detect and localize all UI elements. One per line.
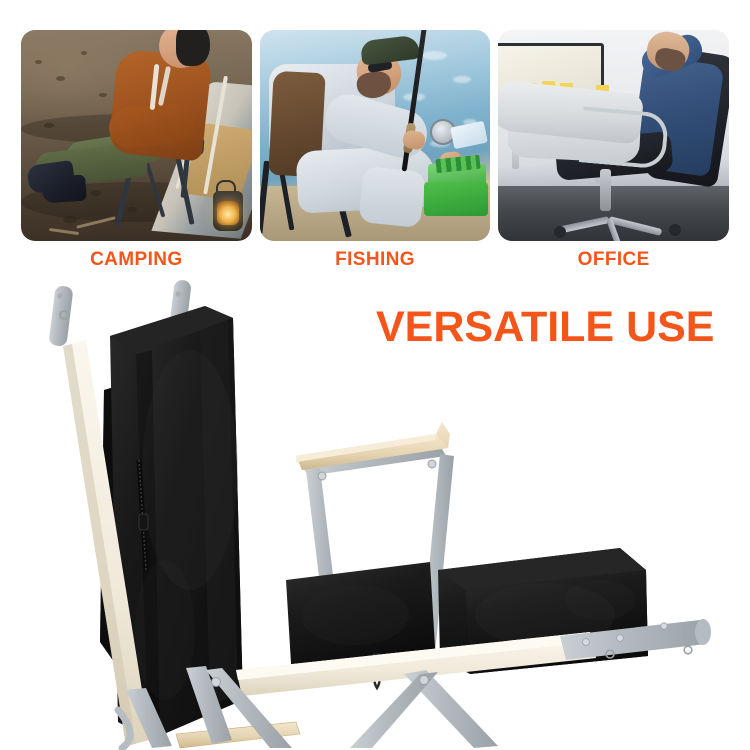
use-case-label-fishing: FISHING	[260, 249, 491, 271]
use-case-photo-camping[interactable]	[21, 30, 252, 241]
use-case-photo-strip	[21, 30, 729, 241]
product-image	[0, 270, 750, 750]
use-case-photo-office[interactable]	[498, 30, 729, 241]
camping-scene	[21, 30, 252, 241]
product-banner: CAMPING FISHING OFFICE VERSATILE USE	[0, 0, 750, 750]
fishing-scene	[260, 30, 491, 241]
office-scene	[498, 30, 729, 241]
use-case-label-camping: CAMPING	[21, 249, 252, 271]
tackle-box-icon	[424, 182, 488, 216]
use-case-label-office: OFFICE	[498, 249, 729, 271]
folding-chair-illustration	[0, 270, 750, 750]
use-case-caption-row: CAMPING FISHING OFFICE	[21, 249, 729, 271]
use-case-photo-fishing[interactable]	[260, 30, 491, 241]
